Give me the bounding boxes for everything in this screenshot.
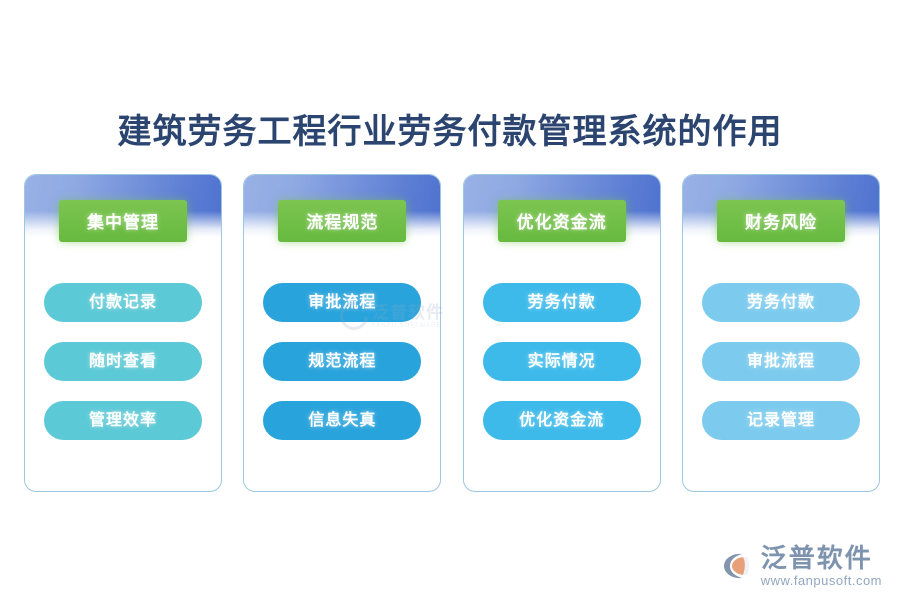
card-row: 集中管理 付款记录 随时查看 管理效率 流程规范 审批流程 规范流程 信息失真 … (24, 174, 880, 492)
card-item-list: 劳务付款 实际情况 优化资金流 (464, 283, 660, 440)
card-item-list: 劳务付款 审批流程 记录管理 (683, 283, 879, 440)
card-heading-badge: 优化资金流 (498, 200, 626, 242)
list-item[interactable]: 管理效率 (44, 401, 202, 440)
logo-brand-cn: 泛普软件 (761, 545, 873, 572)
list-item[interactable]: 信息失真 (263, 401, 421, 440)
card-heading-badge: 流程规范 (278, 200, 406, 242)
logo-text-block: 泛普软件 www.fanpusoft.com (761, 545, 882, 588)
card-财务风险[interactable]: 财务风险 劳务付款 审批流程 记录管理 (682, 174, 880, 492)
card-heading-badge: 集中管理 (59, 200, 187, 242)
footer-logo[interactable]: 泛普软件 www.fanpusoft.com (721, 545, 882, 588)
infographic-canvas: 建筑劳务工程行业劳务付款管理系统的作用 集中管理 付款记录 随时查看 管理效率 … (0, 0, 900, 600)
list-item[interactable]: 付款记录 (44, 283, 202, 322)
fanpu-logo-icon (721, 551, 755, 581)
list-item[interactable]: 审批流程 (263, 283, 421, 322)
card-heading-badge: 财务风险 (717, 200, 845, 242)
list-item[interactable]: 规范流程 (263, 342, 421, 381)
card-优化资金流[interactable]: 优化资金流 劳务付款 实际情况 优化资金流 (463, 174, 661, 492)
list-item[interactable]: 随时查看 (44, 342, 202, 381)
card-流程规范[interactable]: 流程规范 审批流程 规范流程 信息失真 (243, 174, 441, 492)
card-集中管理[interactable]: 集中管理 付款记录 随时查看 管理效率 (24, 174, 222, 492)
list-item[interactable]: 实际情况 (483, 342, 641, 381)
logo-url: www.fanpusoft.com (761, 573, 882, 588)
card-item-list: 付款记录 随时查看 管理效率 (25, 283, 221, 440)
card-item-list: 审批流程 规范流程 信息失真 (244, 283, 440, 440)
page-title: 建筑劳务工程行业劳务付款管理系统的作用 (0, 104, 900, 153)
list-item[interactable]: 记录管理 (702, 401, 860, 440)
list-item[interactable]: 劳务付款 (702, 283, 860, 322)
list-item[interactable]: 审批流程 (702, 342, 860, 381)
list-item[interactable]: 劳务付款 (483, 283, 641, 322)
list-item[interactable]: 优化资金流 (483, 401, 641, 440)
